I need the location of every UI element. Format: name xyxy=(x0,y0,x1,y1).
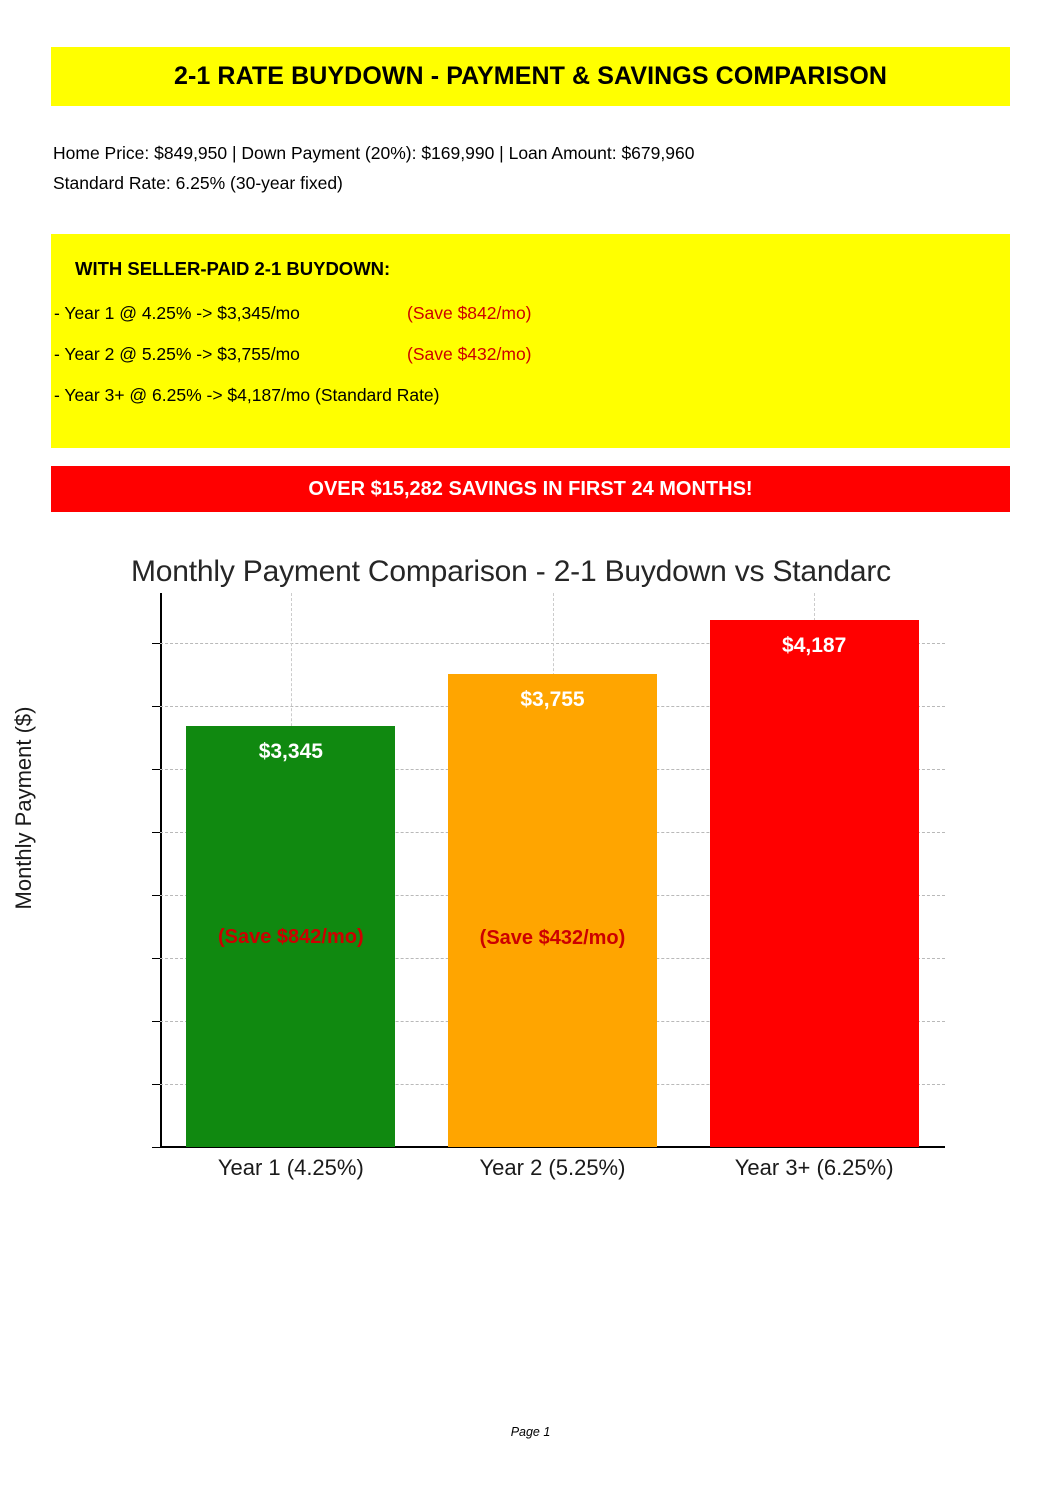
payment-comparison-chart: Monthly Payment Comparison - 2-1 Buydown… xyxy=(0,527,1061,1217)
chart-bar-savings-annotation: (Save $842/mo) xyxy=(186,926,395,949)
title-banner: 2-1 RATE BUYDOWN - PAYMENT & SAVINGS COM… xyxy=(51,47,1010,106)
chart-y-tick-mark xyxy=(152,895,160,896)
buydown-row-year3-rate: - Year 3+ @ 6.25% -> $4,187/mo (Standard… xyxy=(54,385,440,406)
buydown-row-year1: - Year 1 @ 4.25% -> $3,345/mo (Save $842… xyxy=(54,303,994,329)
loan-summary: Home Price: $849,950 | Down Payment (20%… xyxy=(53,138,1013,198)
chart-bar: $4,187 xyxy=(710,620,919,1147)
chart-x-tick-label: Year 1 (4.25%) xyxy=(160,1155,422,1181)
chart-y-tick-mark xyxy=(152,958,160,959)
chart-y-tick-mark xyxy=(152,706,160,707)
buydown-row-year2: - Year 2 @ 5.25% -> $3,755/mo (Save $432… xyxy=(54,344,994,370)
page-title: 2-1 RATE BUYDOWN - PAYMENT & SAVINGS COM… xyxy=(174,62,887,91)
chart-x-tick-label: Year 2 (5.25%) xyxy=(422,1155,684,1181)
loan-summary-line-2: Standard Rate: 6.25% (30-year fixed) xyxy=(53,168,1013,198)
chart-y-axis-title: Monthly Payment ($) xyxy=(11,588,37,1028)
chart-y-tick-mark xyxy=(152,643,160,644)
chart-bar-savings-annotation: (Save $432/mo) xyxy=(448,927,657,950)
chart-bar: $3,755(Save $432/mo) xyxy=(448,674,657,1147)
buydown-row-year2-rate: - Year 2 @ 5.25% -> $3,755/mo xyxy=(54,344,300,365)
loan-summary-line-1: Home Price: $849,950 | Down Payment (20%… xyxy=(53,138,1013,168)
savings-banner-text: OVER $15,282 SAVINGS IN FIRST 24 MONTHS! xyxy=(308,478,752,501)
buydown-row-year3: - Year 3+ @ 6.25% -> $4,187/mo (Standard… xyxy=(54,385,994,411)
chart-bar-value-label: $3,755 xyxy=(448,688,657,712)
chart-y-tick-mark xyxy=(152,1084,160,1085)
chart-y-tick-mark xyxy=(152,769,160,770)
savings-banner: OVER $15,282 SAVINGS IN FIRST 24 MONTHS! xyxy=(51,466,1010,512)
chart-bar: $3,345(Save $842/mo) xyxy=(186,726,395,1147)
chart-y-tick-mark xyxy=(152,1147,160,1148)
buydown-row-year1-rate: - Year 1 @ 4.25% -> $3,345/mo xyxy=(54,303,300,324)
page-footer: Page 1 xyxy=(0,1425,1061,1439)
chart-bar-value-label: $3,345 xyxy=(186,740,395,764)
chart-plot-area: $3,345(Save $842/mo)$3,755(Save $432/mo)… xyxy=(160,593,945,1147)
chart-bar-value-label: $4,187 xyxy=(710,634,919,658)
buydown-detail-box: WITH SELLER-PAID 2-1 BUYDOWN: - Year 1 @… xyxy=(51,234,1010,448)
buydown-row-year1-save: (Save $842/mo) xyxy=(407,303,532,324)
chart-y-tick-mark xyxy=(152,1021,160,1022)
chart-x-tick-label: Year 3+ (6.25%) xyxy=(683,1155,945,1181)
buydown-row-year2-save: (Save $432/mo) xyxy=(407,344,532,365)
chart-y-tick-mark xyxy=(152,832,160,833)
buydown-heading: WITH SELLER-PAID 2-1 BUYDOWN: xyxy=(75,258,390,280)
chart-title: Monthly Payment Comparison - 2-1 Buydown… xyxy=(131,555,891,589)
